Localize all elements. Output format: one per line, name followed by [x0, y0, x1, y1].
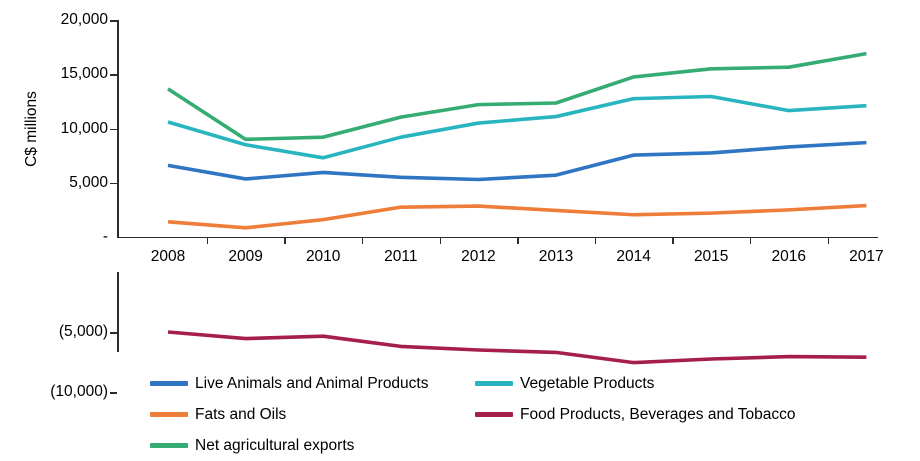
legend-item[interactable]: Food Products, Beverages and Tobacco: [475, 399, 795, 430]
y-axis-tick-label: (5,000): [0, 324, 108, 340]
legend-row: Fats and OilsFood Products, Beverages an…: [150, 399, 910, 430]
y-axis-tick-label: 20,000: [0, 12, 108, 28]
series-line: [168, 54, 866, 140]
legend-label: Live Animals and Animal Products: [195, 375, 428, 393]
legend-color-swatch: [475, 412, 513, 417]
y-axis-tick-label: (10,000): [0, 384, 108, 400]
legend-item[interactable]: Net agricultural exports: [150, 430, 354, 461]
y-axis-tick-label: 5,000: [0, 175, 108, 191]
legend-label: Net agricultural exports: [195, 437, 354, 455]
legend-label: Fats and Oils: [195, 406, 286, 424]
series-line: [168, 332, 866, 363]
y-axis-tick: [110, 74, 117, 76]
legend-color-swatch: [150, 381, 188, 386]
y-axis-tick: [110, 129, 117, 131]
legend-label: Food Products, Beverages and Tobacco: [520, 406, 795, 424]
legend-color-swatch: [150, 412, 188, 417]
series-line: [168, 206, 866, 228]
legend-color-swatch: [150, 443, 188, 448]
legend-row: Live Animals and Animal ProductsVegetabl…: [150, 368, 910, 399]
plot-area: 2008200920102011201220132014201520162017: [117, 20, 895, 352]
y-axis-tick: [110, 20, 117, 22]
legend-item[interactable]: Vegetable Products: [475, 368, 654, 399]
y-axis-tick-label: 15,000: [0, 66, 108, 82]
series-lines: [117, 20, 907, 365]
y-axis-tick-label: -: [0, 229, 108, 245]
legend-label: Vegetable Products: [520, 375, 654, 393]
line-chart: C$ millions 20,00015,00010,0005,000-(5,0…: [0, 0, 920, 459]
legend-color-swatch: [475, 381, 513, 386]
y-axis-tick: [110, 392, 117, 394]
y-axis-tick: [110, 332, 117, 334]
y-axis-tick-labels: 20,00015,00010,0005,000-(5,000)(10,000): [0, 0, 108, 459]
legend-item[interactable]: Fats and Oils: [150, 399, 286, 430]
y-axis-tick-label: 10,000: [0, 121, 108, 137]
legend-row: Net agricultural exports: [150, 430, 910, 461]
y-axis-tick: [110, 183, 117, 185]
legend-item[interactable]: Live Animals and Animal Products: [150, 368, 428, 399]
chart-legend: Live Animals and Animal ProductsVegetabl…: [150, 368, 910, 461]
